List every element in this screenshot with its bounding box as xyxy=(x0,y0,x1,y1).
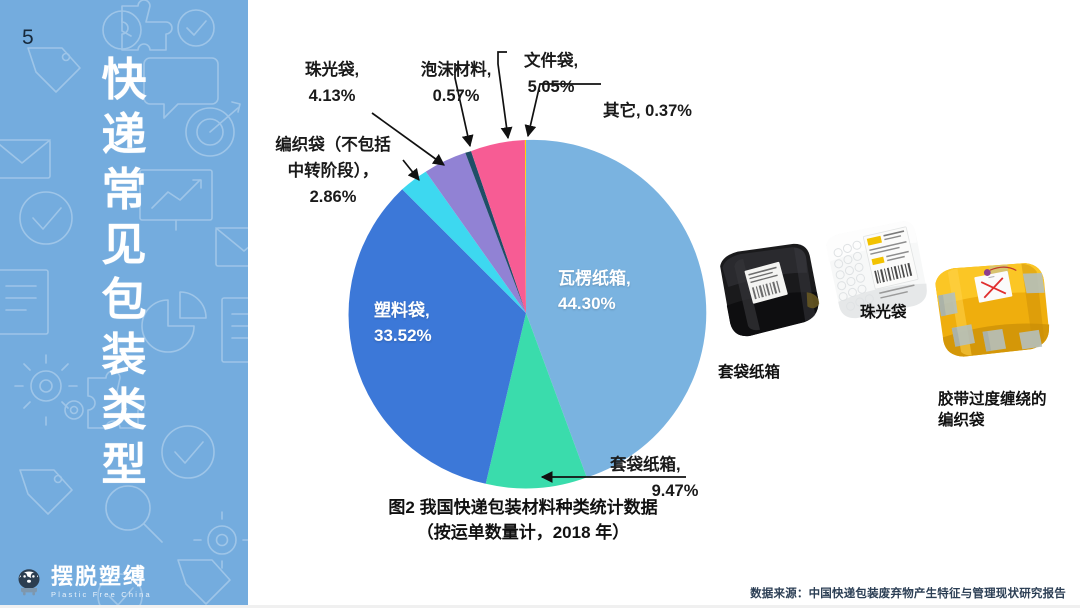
logo-text: 摆脱塑缚 Plastic Free China xyxy=(51,566,152,599)
pie-callout-wjd: 文件袋, 5.05% xyxy=(496,48,606,100)
pie-callout-tdzx-name: 套袋纸箱, xyxy=(610,452,740,478)
pie-callout-zgd-name: 珠光袋, xyxy=(266,57,398,83)
page-number: 5 xyxy=(22,26,34,50)
pie-callout-bzd-name1: 编织袋（不包括 xyxy=(238,132,428,158)
photo-caption-woven-bag-line2: 编织袋 xyxy=(938,410,1047,431)
photo-caption-pearl-bag: 珠光袋 xyxy=(860,302,907,323)
photo-caption-bagged-carton: 套袋纸箱 xyxy=(718,362,780,383)
main-content: 瓦楞纸箱, 44.30% 塑料袋, 33.52% 珠光袋, 4.13% 泡沫材料… xyxy=(248,0,1080,608)
pie-callout-zgd-value: 4.13% xyxy=(266,83,398,109)
sidebar-title-char: 装 xyxy=(101,327,146,382)
sidebar-title-char: 快 xyxy=(101,52,146,107)
pie-callout-bzd: 编织袋（不包括 中转阶段）， 2.86% xyxy=(238,132,428,210)
pie-callout-qt: 其它, 0.37% xyxy=(603,98,753,124)
sidebar-title-char: 型 xyxy=(101,437,146,492)
pie-callout-wjd-value: 5.05% xyxy=(496,74,606,100)
sidebar-title-char: 见 xyxy=(101,217,146,272)
sidebar: 5 快 递 常 见 包 装 类 型 xyxy=(0,0,248,608)
sidebar-title-char: 包 xyxy=(101,272,146,327)
chart-caption-line1: 图2 我国快递包装材料种类统计数据 xyxy=(308,495,738,520)
logo-cn-text: 摆脱塑缚 xyxy=(51,566,152,588)
sidebar-title: 快 递 常 见 包 装 类 型 xyxy=(0,52,248,492)
black-plastic-wrapped-box-photo xyxy=(706,235,836,350)
slide-root: 5 快 递 常 见 包 装 类 型 xyxy=(0,0,1080,608)
sidebar-title-char: 类 xyxy=(101,382,146,437)
sidebar-title-char: 常 xyxy=(101,162,146,217)
pie-label-sld: 塑料袋, 33.52% xyxy=(374,298,514,348)
check-circle-icon xyxy=(178,10,214,46)
pie-label-sld-value: 33.52% xyxy=(374,323,514,348)
brand-logo: 摆脱塑缚 Plastic Free China xyxy=(14,566,152,599)
chart-caption: 图2 我国快递包装材料种类统计数据 （按运单数量计，2018 年） xyxy=(308,495,738,545)
source-text: 数据来源：中国快递包装废弃物产生特征与管理现状研究报告 xyxy=(750,585,1066,601)
photo-caption-woven-bag: 胶带过度缠绕的 编织袋 xyxy=(938,389,1047,431)
pie-callout-wjd-name: 文件袋, xyxy=(496,48,606,74)
yellow-woven-bag-photo xyxy=(924,252,1064,374)
pie-label-sld-name: 塑料袋, xyxy=(374,298,514,323)
pie-label-wlzx-value: 44.30% xyxy=(558,291,718,316)
photo-bagged-carton xyxy=(706,235,836,350)
source-bar: 数据来源：中国快递包装废弃物产生特征与管理现状研究报告 xyxy=(248,578,1080,608)
sidebar-title-char: 递 xyxy=(101,107,146,162)
pie-label-wlzx-name: 瓦楞纸箱, xyxy=(558,266,718,291)
pie-callout-zgd: 珠光袋, 4.13% xyxy=(266,57,398,109)
pie-callout-qt-text: 其它, 0.37% xyxy=(603,98,753,124)
chart-caption-line2: （按运单数量计，2018 年） xyxy=(308,520,738,545)
pie-callout-bzd-value: 2.86% xyxy=(238,184,428,210)
panda-globe-logo-icon xyxy=(14,567,44,597)
photo-caption-woven-bag-line1: 胶带过度缠绕的 xyxy=(938,389,1047,410)
puzzle-icon xyxy=(122,0,172,50)
photo-woven-bag xyxy=(924,252,1064,374)
pie-label-wlzx: 瓦楞纸箱, 44.30% xyxy=(558,266,718,316)
logo-en-text: Plastic Free China xyxy=(51,591,152,599)
pie-callout-bzd-name2: 中转阶段）， xyxy=(238,158,428,184)
magnifier-icon xyxy=(106,486,162,542)
